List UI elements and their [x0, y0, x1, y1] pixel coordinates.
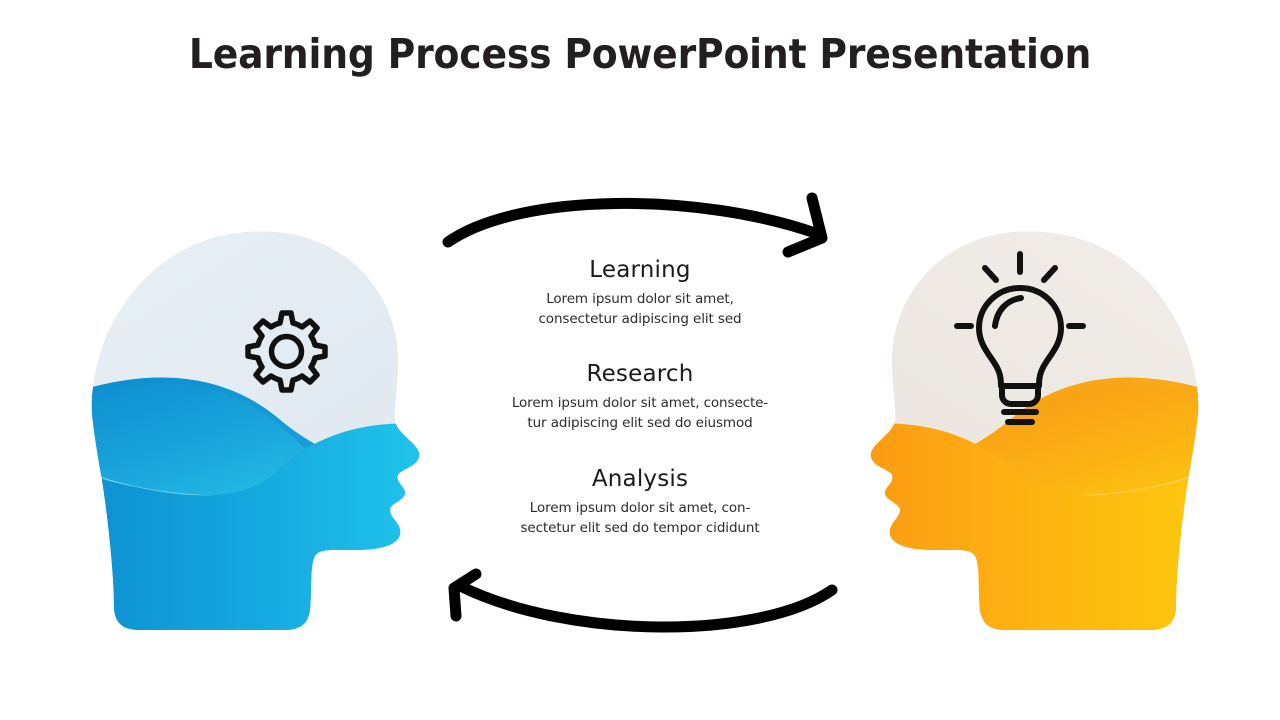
step-item-research: Research Lorem ipsum dolor sit amet, con… [450, 359, 830, 433]
slide-canvas: Learning Process PowerPoint Presentation [0, 0, 1280, 720]
step-desc-line: tur adipiscing elit sed do eiusmod [450, 413, 830, 433]
step-item-learning: Learning Lorem ipsum dolor sit amet, con… [450, 255, 830, 329]
right-head-graphic [832, 218, 1212, 638]
step-desc-line: consectetur adipiscing elit sed [450, 309, 830, 329]
step-desc-line: Lorem ipsum dolor sit amet, [450, 289, 830, 309]
arrow-curved-left-icon [430, 558, 850, 644]
step-desc-line: sectetur elit sed do tempor cididunt [450, 518, 830, 538]
step-title-research: Research [450, 359, 830, 389]
step-desc-line: Lorem ipsum dolor sit amet, con- [450, 498, 830, 518]
step-title-analysis: Analysis [450, 464, 830, 494]
step-desc-research: Lorem ipsum dolor sit amet, consecte- tu… [450, 393, 830, 433]
page-title: Learning Process PowerPoint Presentation [51, 28, 1229, 80]
step-desc-line: Lorem ipsum dolor sit amet, consecte- [450, 393, 830, 413]
step-title-learning: Learning [450, 255, 830, 285]
steps-list: Learning Lorem ipsum dolor sit amet, con… [450, 255, 830, 538]
step-item-analysis: Analysis Lorem ipsum dolor sit amet, con… [450, 464, 830, 538]
step-desc-learning: Lorem ipsum dolor sit amet, consectetur … [450, 289, 830, 329]
step-desc-analysis: Lorem ipsum dolor sit amet, con- sectetu… [450, 498, 830, 538]
left-head-graphic [78, 218, 458, 638]
